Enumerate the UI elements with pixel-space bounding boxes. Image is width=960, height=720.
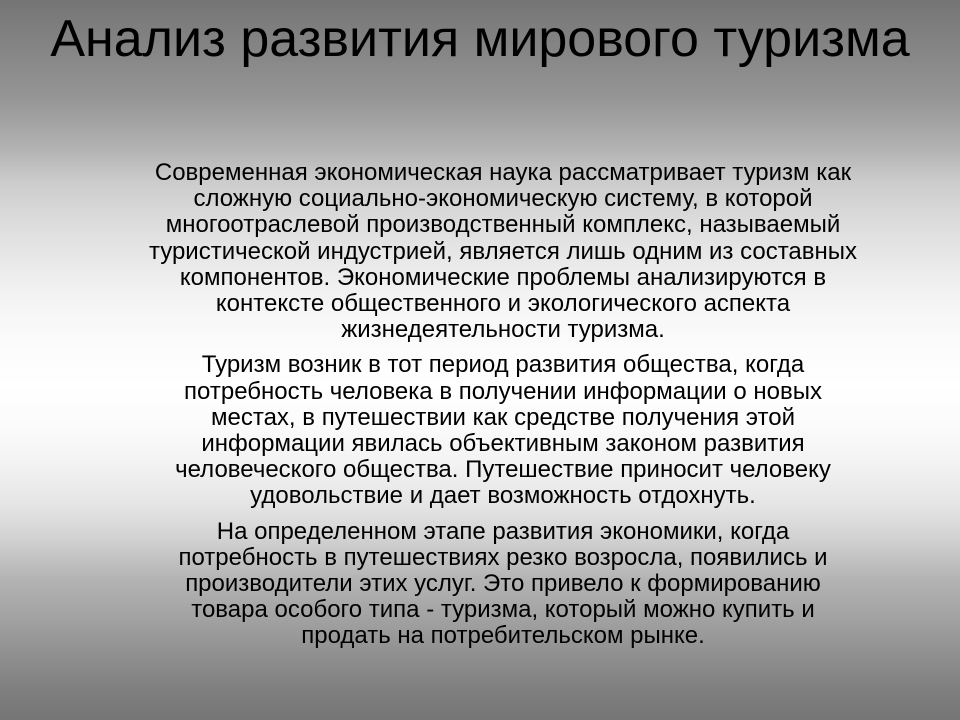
presentation-slide: Анализ развития мирового туризма Совреме… [0,0,960,720]
page-title: Анализ развития мирового туризма [48,8,912,70]
slide-body-text: Современная экономическая наука рассматр… [148,160,858,650]
body-paragraph-2: Туризм возник в тот период развития обще… [148,352,858,509]
body-paragraph-3: На определенном этапе развития экономики… [148,519,858,650]
body-paragraph-1: Современная экономическая наука рассматр… [148,160,858,343]
